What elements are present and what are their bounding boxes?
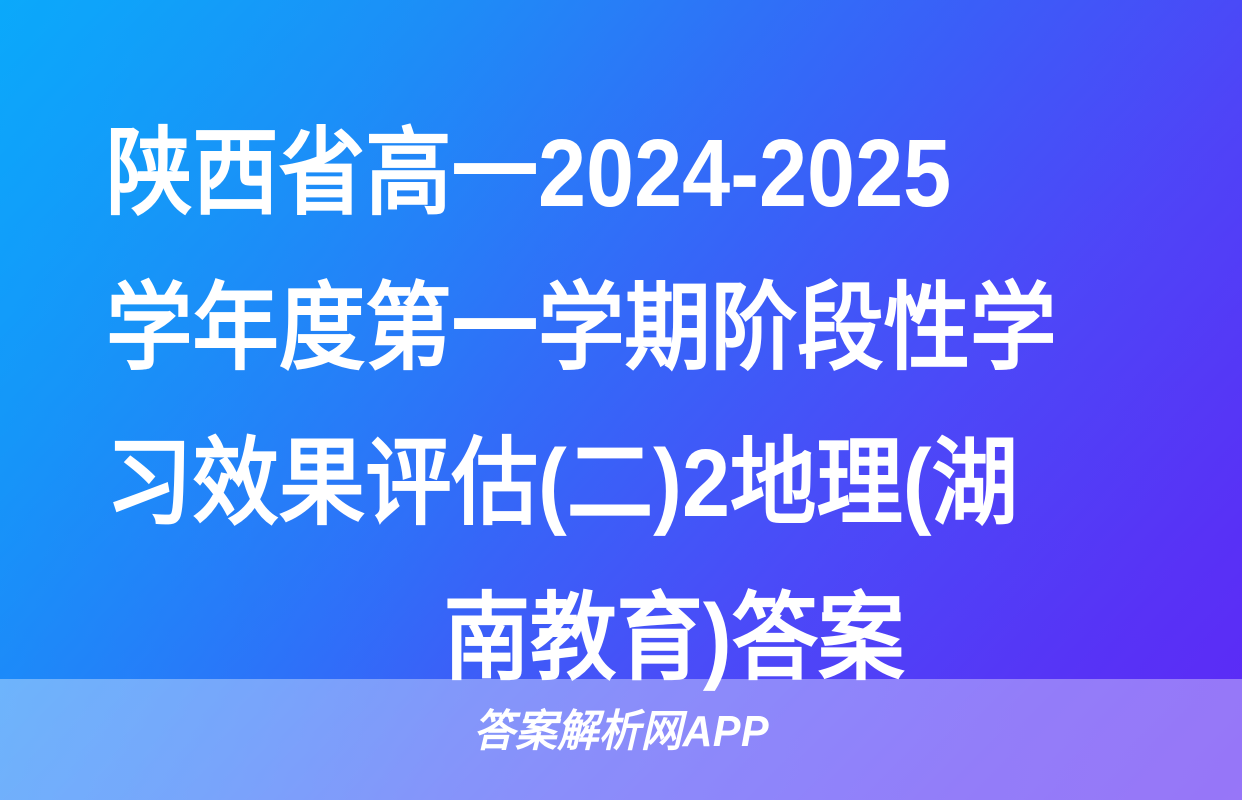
title-line-2: 学年度第一学期阶段性学 bbox=[106, 251, 1128, 406]
poster-canvas: 陕西省高一2024-2025 学年度第一学期阶段性学 习效果评估(二)2地理(湖… bbox=[0, 0, 1242, 800]
footer-band: 答案解析网APP bbox=[0, 679, 1242, 800]
title-line-1: 陕西省高一2024-2025 bbox=[106, 96, 1128, 251]
title-line-3: 习效果评估(二)2地理(湖 bbox=[106, 406, 1128, 561]
title-block: 陕西省高一2024-2025 学年度第一学期阶段性学 习效果评估(二)2地理(湖… bbox=[0, 96, 1242, 716]
app-brand-label: 答案解析网APP bbox=[473, 707, 769, 757]
